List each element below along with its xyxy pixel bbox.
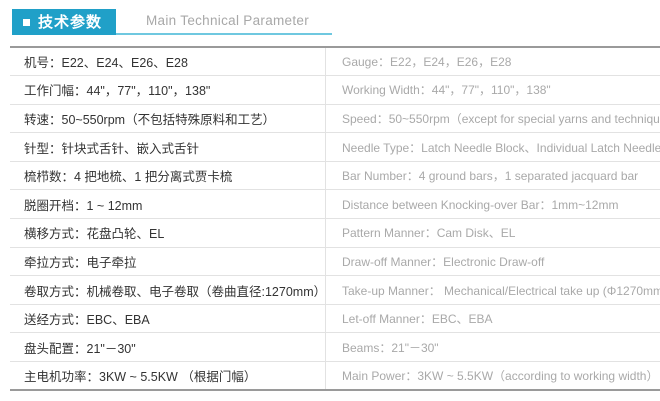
table-row: 梳栉数：4 把地梳、1 把分离式贾卡梳 Bar Number：4 ground … <box>10 161 660 190</box>
table-row: 转速：50~550rpm（不包括特殊原料和工艺） Speed：50~550rpm… <box>10 104 660 133</box>
spec-label-cn: 主电机功率：3KW ~ 5.5KW （根据门幅） <box>10 362 326 391</box>
table-row: 卷取方式：机械卷取、电子卷取（卷曲直径:1270mm） Take-up Mann… <box>10 276 660 305</box>
spec-label-en: Take-up Manner： Mechanical/Electrical ta… <box>326 276 660 305</box>
spec-label-cn: 卷取方式：机械卷取、电子卷取（卷曲直径:1270mm） <box>10 276 326 305</box>
spec-label-cn: 盘头配置：21"－30" <box>10 333 326 362</box>
spec-label-en: Gauge：E22，E24，E26，E28 <box>326 47 660 76</box>
spec-sheet-page: 技术参数 Main Technical Parameter 机号：E22、E24… <box>0 0 660 401</box>
spec-label-cn: 梳栉数：4 把地梳、1 把分离式贾卡梳 <box>10 161 326 190</box>
spec-label-cn: 转速：50~550rpm（不包括特殊原料和工艺） <box>10 104 326 133</box>
spec-label-en: Main Power：3KW ~ 5.5KW（according to work… <box>326 362 660 391</box>
spec-label-cn: 横移方式：花盘凸轮、EL <box>10 219 326 248</box>
table-row: 横移方式：花盘凸轮、EL Pattern Manner：Cam Disk、EL <box>10 219 660 248</box>
spec-label-en: Speed：50~550rpm（except for special yarns… <box>326 104 660 133</box>
table-row: 机号：E22、E24、E26、E28 Gauge：E22，E24，E26，E28 <box>10 47 660 76</box>
spec-label-cn: 机号：E22、E24、E26、E28 <box>10 47 326 76</box>
spec-label-en: Needle Type：Latch Needle Block、Individua… <box>326 133 660 162</box>
spec-label-en: Let-off Manner：EBC、EBA <box>326 304 660 333</box>
section-header: 技术参数 Main Technical Parameter <box>0 0 660 44</box>
spec-label-en: Draw-off Manner：Electronic Draw-off <box>326 247 660 276</box>
table-row: 牵拉方式：电子牵拉 Draw-off Manner：Electronic Dra… <box>10 247 660 276</box>
section-title-en: Main Technical Parameter <box>146 13 309 28</box>
section-title-cn: 技术参数 <box>38 15 102 30</box>
spec-label-cn: 送经方式：EBC、EBA <box>10 304 326 333</box>
spec-label-en: Distance between Knocking-over Bar：1mm~1… <box>326 190 660 219</box>
square-bullet-icon <box>23 19 30 26</box>
table-body: 机号：E22、E24、E26、E28 Gauge：E22，E24，E26，E28… <box>10 47 660 390</box>
table-row: 主电机功率：3KW ~ 5.5KW （根据门幅） Main Power：3KW … <box>10 362 660 391</box>
spec-label-cn: 工作门幅：44"，77"，110"，138" <box>10 76 326 105</box>
table-row: 针型：针块式舌针、嵌入式舌针 Needle Type：Latch Needle … <box>10 133 660 162</box>
technical-parameter-table: 机号：E22、E24、E26、E28 Gauge：E22，E24，E26，E28… <box>10 46 660 391</box>
table-row: 送经方式：EBC、EBA Let-off Manner：EBC、EBA <box>10 304 660 333</box>
table-row: 工作门幅：44"，77"，110"，138" Working Width：44"… <box>10 76 660 105</box>
spec-label-cn: 针型：针块式舌针、嵌入式舌针 <box>10 133 326 162</box>
spec-label-en: Working Width：44"，77"，110"，138" <box>326 76 660 105</box>
section-title-badge: 技术参数 <box>12 9 116 35</box>
spec-label-cn: 牵拉方式：电子牵拉 <box>10 247 326 276</box>
table-row: 脱圈开档：1 ~ 12mm Distance between Knocking-… <box>10 190 660 219</box>
spec-label-en: Pattern Manner：Cam Disk、EL <box>326 219 660 248</box>
spec-label-en: Bar Number：4 ground bars，1 separated jac… <box>326 161 660 190</box>
table-row: 盘头配置：21"－30" Beams：21"－30" <box>10 333 660 362</box>
spec-label-cn: 脱圈开档：1 ~ 12mm <box>10 190 326 219</box>
spec-label-en: Beams：21"－30" <box>326 333 660 362</box>
